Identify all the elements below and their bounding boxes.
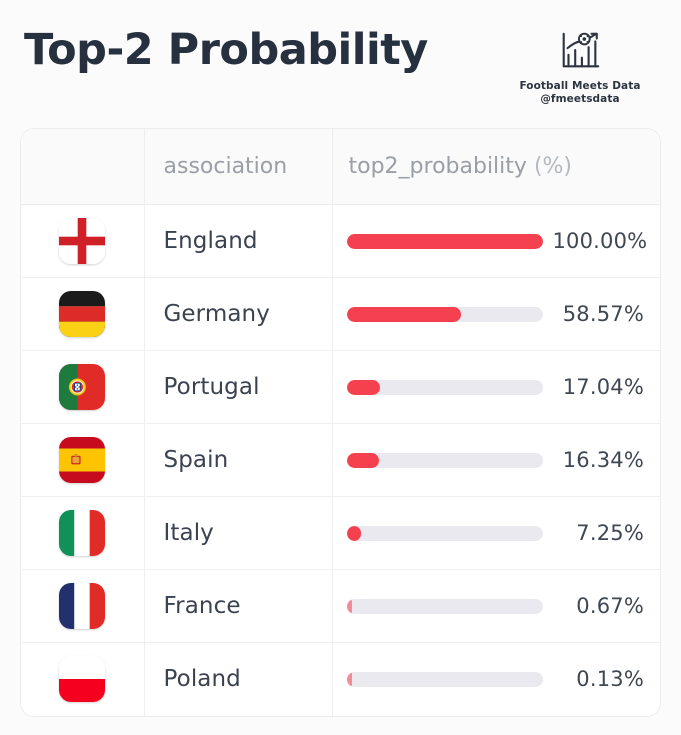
flag-england-icon — [59, 218, 105, 264]
table-row: England100.00% — [21, 205, 661, 278]
probability-value: 7.25% — [553, 521, 645, 545]
table-header-row: association top2_probability (%) — [21, 129, 661, 205]
flag-poland-icon — [59, 656, 105, 702]
cell-probability: 0.13% — [332, 643, 661, 716]
cell-probability: 7.25% — [332, 497, 661, 570]
probability-bar-group: 0.13% — [347, 667, 645, 691]
table-row: France0.67% — [21, 570, 661, 643]
column-header-probability: top2_probability (%) — [332, 129, 661, 205]
cell-probability: 16.34% — [332, 424, 661, 497]
cell-flag — [21, 497, 144, 570]
probability-value: 58.57% — [553, 302, 645, 326]
cell-flag — [21, 570, 144, 643]
table-row: Germany58.57% — [21, 278, 661, 351]
table-header: association top2_probability (%) — [21, 129, 661, 205]
cell-flag — [21, 278, 144, 351]
column-header-flag — [21, 129, 144, 205]
probability-table-page: Top-2 Probability — [0, 0, 681, 735]
page-header: Top-2 Probability — [0, 0, 681, 128]
probability-value: 100.00% — [553, 229, 648, 253]
cell-association: Germany — [144, 278, 332, 351]
probability-bar-fill — [347, 380, 380, 395]
flag-spain-icon — [59, 437, 105, 483]
probability-bar-fill — [347, 234, 543, 249]
probability-value: 17.04% — [553, 375, 645, 399]
probability-bar-group: 58.57% — [347, 302, 645, 326]
probability-bar-fill — [347, 672, 353, 687]
probability-bar-group: 16.34% — [347, 448, 645, 472]
cell-association: Poland — [144, 643, 332, 716]
brand-name: Football Meets Data — [519, 80, 640, 93]
cell-association: Italy — [144, 497, 332, 570]
probability-table: association top2_probability (%) England… — [20, 128, 661, 717]
probability-value: 16.34% — [553, 448, 645, 472]
cell-flag — [21, 424, 144, 497]
brand-handle: @fmeetsdata — [540, 93, 619, 106]
table-body: England100.00% Germany58.57% Portugal17.… — [21, 205, 661, 716]
probability-bar-track — [347, 453, 543, 468]
flag-germany-icon — [59, 291, 105, 337]
probability-bar-track — [347, 234, 543, 249]
bar-chart-football-icon — [557, 28, 603, 74]
cell-association: Portugal — [144, 351, 332, 424]
probability-value: 0.67% — [553, 594, 645, 618]
probability-bar-fill — [347, 453, 379, 468]
brand-block: Football Meets Data @fmeetsdata — [505, 22, 655, 106]
column-header-probability-unit: (%) — [534, 154, 572, 179]
probability-bar-fill — [347, 599, 353, 614]
probability-bar-track — [347, 672, 543, 687]
probability-bar-track — [347, 599, 543, 614]
cell-association: France — [144, 570, 332, 643]
probability-value: 0.13% — [553, 667, 645, 691]
probability-bar-group: 17.04% — [347, 375, 645, 399]
probability-bar-group: 7.25% — [347, 521, 645, 545]
page-title: Top-2 Probability — [24, 28, 428, 73]
cell-probability: 58.57% — [332, 278, 661, 351]
cell-flag — [21, 643, 144, 716]
cell-probability: 17.04% — [332, 351, 661, 424]
probability-bar-group: 0.67% — [347, 594, 645, 618]
flag-portugal-icon — [59, 364, 105, 410]
flag-italy-icon — [59, 510, 105, 556]
probability-bar-track — [347, 307, 543, 322]
table-row: Portugal17.04% — [21, 351, 661, 424]
cell-flag — [21, 351, 144, 424]
cell-association: Spain — [144, 424, 332, 497]
probability-bar-track — [347, 526, 543, 541]
table-row: Spain16.34% — [21, 424, 661, 497]
column-header-association: association — [144, 129, 332, 205]
flag-france-icon — [59, 583, 105, 629]
probability-bar-fill — [347, 526, 361, 541]
table-row: Poland0.13% — [21, 643, 661, 716]
cell-probability: 0.67% — [332, 570, 661, 643]
probability-bar-group: 100.00% — [347, 229, 645, 253]
cell-flag — [21, 205, 144, 278]
cell-association: England — [144, 205, 332, 278]
cell-probability: 100.00% — [332, 205, 661, 278]
probability-bar-track — [347, 380, 543, 395]
probability-bar-fill — [347, 307, 462, 322]
column-header-probability-label: top2_probability — [349, 154, 527, 179]
table-row: Italy7.25% — [21, 497, 661, 570]
